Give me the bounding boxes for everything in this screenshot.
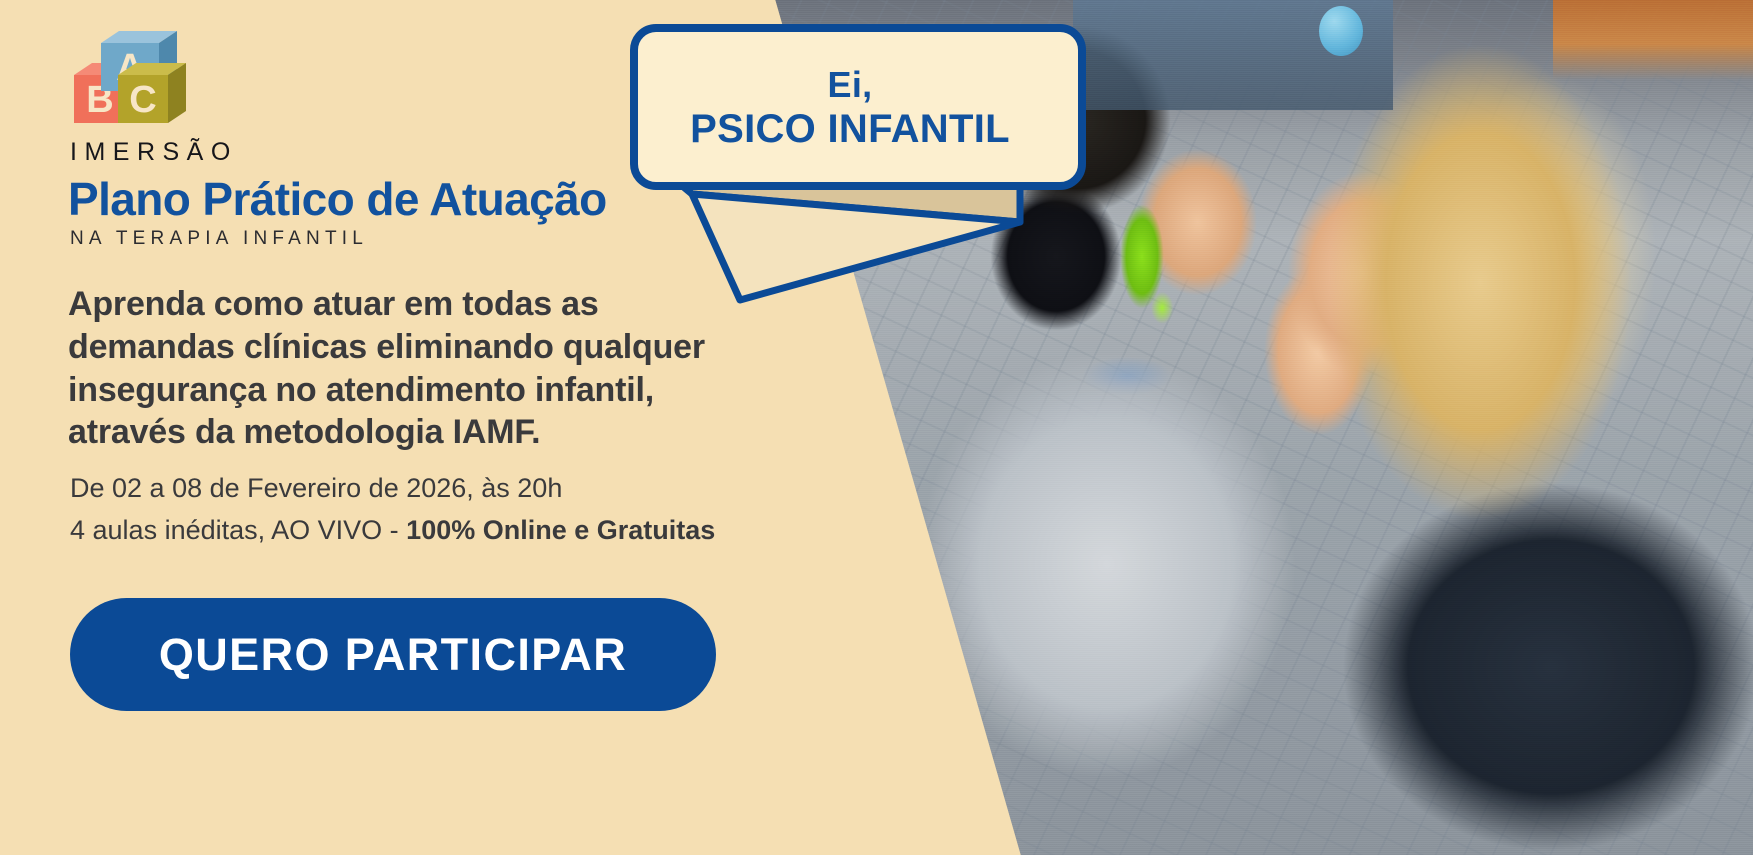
bubble-line-2: PSICO INFANTIL [640,106,1060,153]
event-classes-highlight: 100% Online e Gratuitas [406,515,715,545]
svg-text:C: C [129,79,156,121]
pitch-paragraph: Aprenda como atuar em todas as demandas … [68,283,828,454]
quero-participar-button[interactable]: QUERO PARTICIPAR [70,598,716,711]
cta-label: QUERO PARTICIPAR [159,629,627,681]
eyebrow-label: IMERSÃO [70,138,238,167]
block-c: C [118,63,186,123]
pitch-line-1: Aprenda como atuar em todas as [68,283,828,326]
event-classes: 4 aulas inéditas, AO VIVO - 100% Online … [70,510,900,552]
pitch-line-4: através da metodologia IAMF. [68,411,828,454]
bubble-line-1: Ei, [640,64,1060,106]
abc-blocks-icon: B A C [70,30,190,132]
event-classes-prefix: 4 aulas inéditas, AO VIVO - [70,515,406,545]
bubble-text: Ei, PSICO INFANTIL [640,64,1060,154]
pitch-line-2: demandas clínicas eliminando qualquer [68,326,828,369]
pitch-line-3: insegurança no atendimento infantil, [68,369,828,412]
event-date: De 02 a 08 de Fevereiro de 2026, às 20h [70,468,900,510]
promo-banner: B A C IMERSÃO Plano Prático de [0,0,1753,855]
page-subtitle: NA TERAPIA INFANTIL [70,228,368,250]
page-title: Plano Prático de Atuação [68,172,607,226]
event-details: De 02 a 08 de Fevereiro de 2026, às 20h … [70,468,900,552]
